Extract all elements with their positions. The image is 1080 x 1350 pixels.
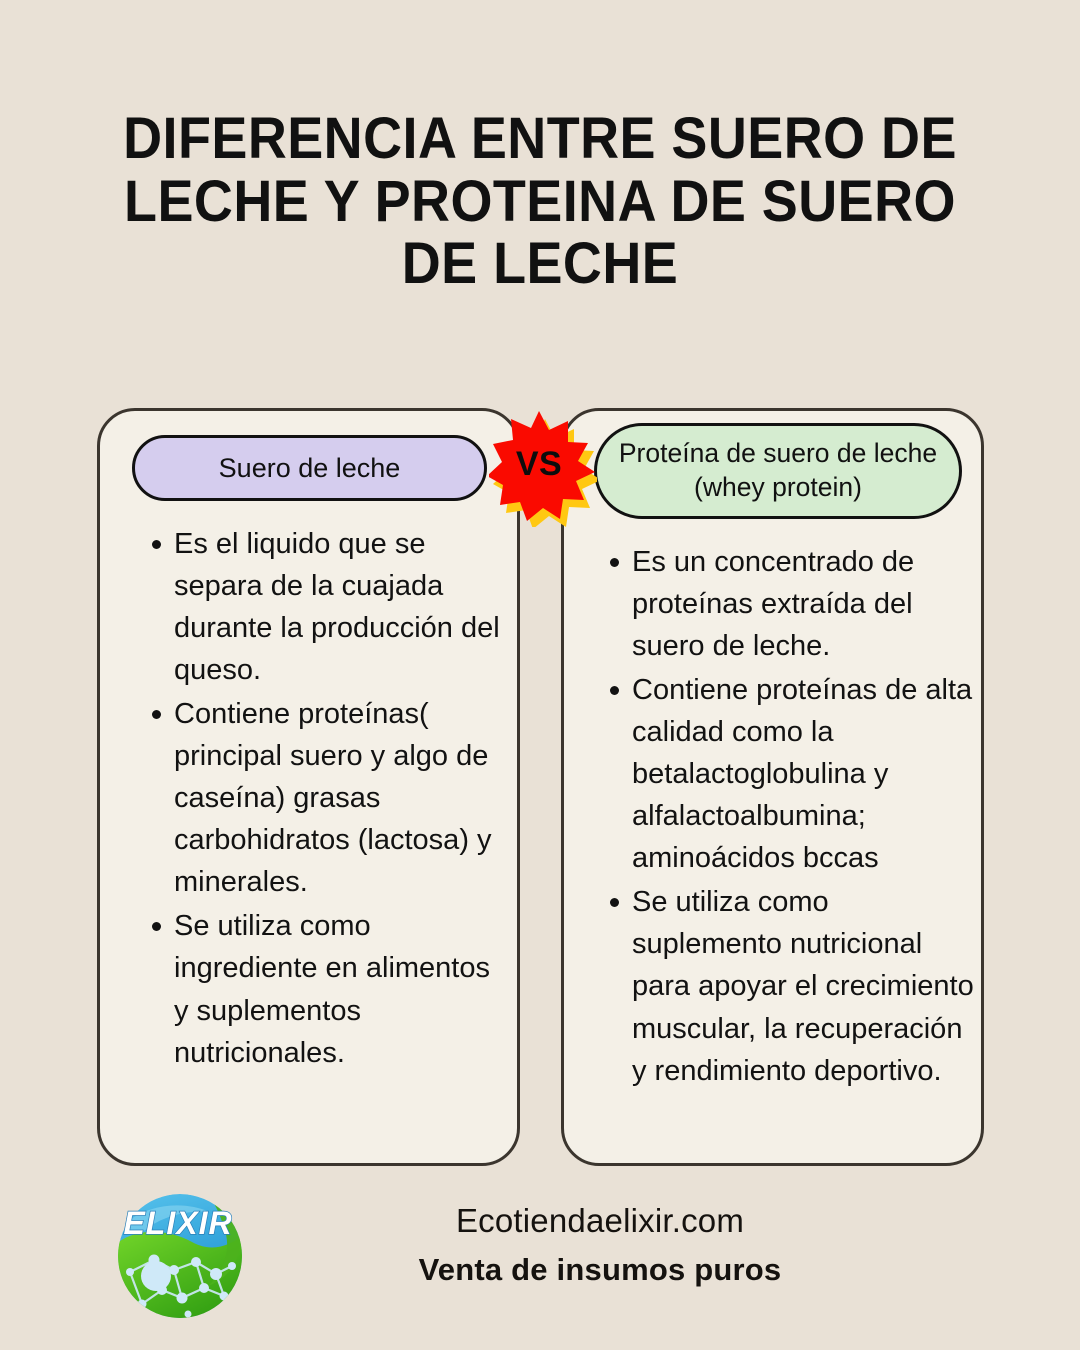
list-item: Se utiliza como suplemento nutricional p… bbox=[610, 881, 982, 1091]
right-column-heading-label: Proteína de suero de leche (whey protein… bbox=[611, 437, 945, 505]
elixir-logo: ELIXIR bbox=[112, 1186, 248, 1322]
footer-text-block: Ecotiendaelixir.com Venta de insumos pur… bbox=[280, 1200, 920, 1291]
list-item: Se utiliza como ingrediente en alimentos… bbox=[152, 905, 512, 1073]
panel-suero-de-leche: Suero de leche Es el liquido que se sepa… bbox=[97, 408, 520, 1166]
footer: ELIXIR Ecotiendaelixir.com Venta de insu… bbox=[0, 1178, 1080, 1328]
left-column-heading-pill: Suero de leche bbox=[132, 435, 487, 501]
vs-badge-label: VS bbox=[489, 409, 589, 519]
right-column-heading-pill: Proteína de suero de leche (whey protein… bbox=[594, 423, 962, 519]
list-item: Contiene proteínas de alta calidad como … bbox=[610, 669, 982, 879]
list-item: Es un concentrado de proteínas extraída … bbox=[610, 541, 982, 667]
footer-tagline: Venta de insumos puros bbox=[280, 1250, 920, 1290]
page-title: DIFERENCIA ENTRE SUERO DE LECHE Y PROTEI… bbox=[94, 108, 987, 296]
left-column-heading-label: Suero de leche bbox=[219, 451, 401, 486]
list-item: Es el liquido que se separa de la cuajad… bbox=[152, 523, 512, 691]
footer-website: Ecotiendaelixir.com bbox=[280, 1200, 920, 1241]
right-column-bullet-list: Es un concentrado de proteínas extraída … bbox=[576, 541, 982, 1094]
list-item: Contiene proteínas( principal suero y al… bbox=[152, 693, 512, 903]
vs-badge: VS bbox=[489, 409, 597, 527]
left-column-bullet-list: Es el liquido que se separa de la cuajad… bbox=[118, 523, 512, 1076]
panel-proteina-de-suero: Proteína de suero de leche (whey protein… bbox=[561, 408, 984, 1166]
elixir-logo-text: ELIXIR bbox=[123, 1205, 232, 1241]
